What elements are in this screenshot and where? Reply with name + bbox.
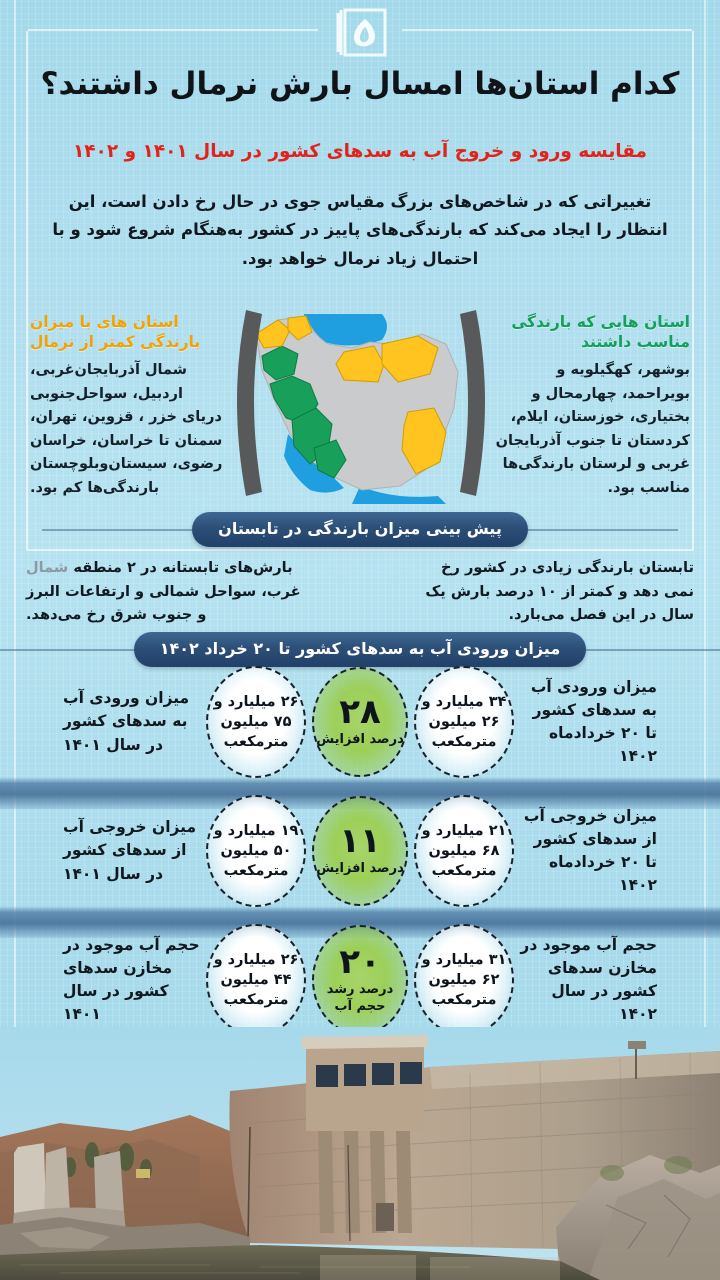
row-left-label: حجم آب موجود در مخازن سدهای کشور در سال …: [51, 934, 203, 1027]
row-left-value: ۲۶ میلیارد و ۷۵ میلیون مترمکعب: [206, 666, 306, 778]
row-left-value: ۱۹ میلیارد و ۵۰ میلیون مترمکعب: [206, 795, 306, 907]
data-pill-label: میزان ورودی آب به سدهای کشور تا ۲۰ خرداد…: [134, 632, 586, 667]
page-title: کدام استان‌ها امسال بارش نرمال داشتند؟: [0, 66, 720, 103]
summer-left-part2: غرب، سواحل شمالی و ارتفاعات البرز و جنوب…: [26, 583, 301, 624]
row-percent-number: ۲۰: [314, 945, 406, 979]
table-row: میزان خروجی آب از سدهای کشور تا ۲۰ خرداد…: [0, 792, 720, 910]
column-below-normal-heading: استان های با میزان بارندگی کمتر از نرمال: [30, 312, 226, 352]
column-adequate-heading: استان هایی که بارندگی مناسب داشتند: [494, 312, 690, 352]
intro-paragraph: تغییراتی که در شاخص‌های بزرگ مقیاس جوی د…: [44, 188, 676, 273]
mehr-news-logo-icon: [332, 5, 388, 60]
row-percent-caption: درصد افزایش: [316, 861, 404, 877]
row-left-label: میزان ورودی آب به سدهای کشور در سال ۱۴۰۱: [51, 687, 203, 757]
row-right-value: ۲۱ میلیارد و ۶۸ میلیون مترمکعب: [414, 795, 514, 907]
table-row: حجم آب موجود در مخازن سدهای کشور در سال …: [0, 921, 720, 1039]
column-adequate: استان هایی که بارندگی مناسب داشتند بوشهر…: [494, 312, 690, 500]
row-percent-caption: درصد افزایش: [316, 732, 404, 748]
column-below-normal-body: شمال آذربایجان‌غربی، اردبیل، سواحل‌جنوبی…: [30, 359, 226, 500]
column-below-normal: استان های با میزان بارندگی کمتر از نرمال…: [30, 312, 226, 500]
row-right-label: میزان خروجی آب از سدهای کشور تا ۲۰ خرداد…: [517, 805, 669, 898]
summer-text-right: تابستان بارندگی زیادی در کشور رخ نمی دهد…: [408, 556, 694, 627]
rule-left-2: [0, 649, 134, 651]
row-right-value: ۳۱ میلیارد و ۶۲ میلیون مترمکعب: [414, 924, 514, 1036]
summer-pill-label: پیش بینی میزان بارندگی در تابستان: [192, 512, 528, 547]
row-percent-number: ۲۸: [316, 695, 404, 729]
row-percent-bubble: ۲۸ درصد افزایش: [312, 667, 408, 777]
row-left-label: میزان خروجی آب از سدهای کشور در سال ۱۴۰۱: [51, 816, 203, 886]
row-right-label: حجم آب موجود در مخازن سدهای کشور در سال …: [517, 934, 669, 1027]
summer-text-left: بارش‌های تابستانه در ۲ منطقه شمال غرب، س…: [26, 556, 312, 627]
row-right-value: ۳۴ میلیارد و ۲۶ میلیون مترمکعب: [414, 666, 514, 778]
summer-left-highlight: شمال: [26, 559, 68, 576]
row-percent-bubble: ۲۰ درصد رشد حجم آب: [312, 925, 408, 1035]
iran-map-illustration: [232, 300, 490, 505]
summer-section-header: پیش بینی میزان بارندگی در تابستان: [0, 512, 720, 547]
data-section-header: میزان ورودی آب به سدهای کشور تا ۲۰ خرداد…: [0, 632, 720, 667]
dam-photograph: [0, 1027, 720, 1280]
summer-left-part1: بارش‌های تابستانه در ۲ منطقه: [73, 559, 292, 576]
rule-right-2: [586, 649, 720, 651]
column-adequate-body: بوشهر، کهگیلویه و بویراحمد، چهارمحال و ب…: [494, 359, 690, 500]
rule-left: [42, 529, 192, 531]
row-percent-number: ۱۱: [316, 824, 404, 858]
table-row: میزان ورودی آب به سدهای کشور تا ۲۰ خرداد…: [0, 663, 720, 781]
page-subtitle: مقایسه ورود و خروج آب به سدهای کشور در س…: [0, 140, 720, 164]
row-percent-caption: درصد رشد حجم آب: [314, 982, 406, 1015]
row-percent-bubble: ۱۱ درصد افزایش: [312, 796, 408, 906]
infographic-page: کدام استان‌ها امسال بارش نرمال داشتند؟ م…: [0, 0, 720, 1280]
row-left-value: ۲۶ میلیارد و ۴۴ میلیون مترمکعب: [206, 924, 306, 1036]
rule-right: [528, 529, 678, 531]
row-right-label: میزان ورودی آب به سدهای کشور تا ۲۰ خرداد…: [517, 676, 669, 769]
